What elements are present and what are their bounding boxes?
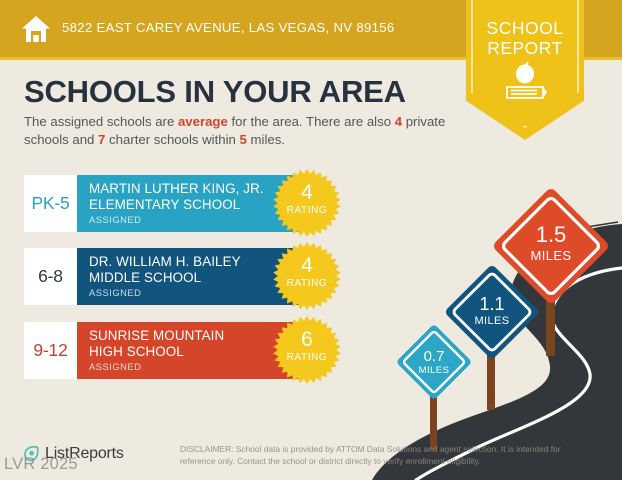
home-icon — [20, 13, 52, 45]
school-row[interactable]: 6-8 DR. WILLIAM H. BAILEY MIDDLE SCHOOL … — [24, 248, 301, 305]
school-name-line2: HIGH SCHOOL — [89, 344, 289, 360]
school-row[interactable]: 9-12 SUNRISE MOUNTAIN HIGH SCHOOL ASSIGN… — [24, 322, 301, 379]
rating-starburst: 4 RATING — [273, 242, 341, 310]
rating-starburst: 4 RATING — [273, 169, 341, 237]
apple-and-book-icon — [497, 60, 553, 106]
grade-range-badge: PK-5 — [24, 175, 77, 232]
distance-sign-large: 1.5 MILES — [492, 184, 610, 369]
watermark-label: LVR 2025 — [4, 455, 78, 474]
sign-2-graphic — [492, 184, 610, 364]
rating-label: RATING — [273, 205, 341, 217]
rating-value: 4 — [273, 255, 341, 277]
school-bar: MARTIN LUTHER KING, JR. ELEMENTARY SCHOO… — [77, 175, 301, 232]
assignment-status: ASSIGNED — [89, 361, 141, 372]
school-name: DR. WILLIAM H. BAILEY MIDDLE SCHOOL — [89, 254, 289, 285]
subtitle-highlight: 4 — [395, 114, 402, 129]
school-bar: SUNRISE MOUNTAIN HIGH SCHOOL ASSIGNED — [77, 322, 301, 379]
rating-value: 4 — [273, 182, 341, 204]
school-name: MARTIN LUTHER KING, JR. ELEMENTARY SCHOO… — [89, 181, 289, 212]
rating-value: 6 — [273, 329, 341, 351]
road-illustration: 0.7 MILES 1.1 MILES 1.5 — [372, 182, 622, 480]
school-name-line2: MIDDLE SCHOOL — [89, 270, 289, 286]
banner-title-line1: SCHOOL — [466, 18, 584, 38]
grade-range-badge: 9-12 — [24, 322, 77, 379]
disclaimer-text: DISCLAIMER: School data is provided by A… — [180, 444, 580, 467]
assignment-status: ASSIGNED — [89, 287, 141, 298]
subtitle-highlight: 5 — [240, 132, 247, 147]
sign-distance-unit: MILES — [492, 248, 610, 263]
grade-range-label: 6-8 — [38, 266, 63, 287]
grade-range-badge: 6-8 — [24, 248, 77, 305]
rating-label: RATING — [273, 278, 341, 290]
sign-distance-value: 1.5 — [492, 222, 610, 248]
assignment-status: ASSIGNED — [89, 214, 141, 225]
rating-starburst: 6 RATING — [273, 316, 341, 384]
school-name-line1: DR. WILLIAM H. BAILEY — [89, 254, 289, 270]
page-title: SCHOOLS IN YOUR AREA — [24, 74, 406, 110]
page-subtitle: The assigned schools are average for the… — [24, 113, 454, 148]
school-name-line1: MARTIN LUTHER KING, JR. — [89, 181, 289, 197]
subtitle-text: for the area. There are also — [228, 114, 395, 129]
subtitle-highlight: average — [178, 114, 228, 129]
school-name-line1: SUNRISE MOUNTAIN — [89, 328, 289, 344]
subtitle-text: miles. — [247, 132, 285, 147]
banner-title-line2: REPORT — [466, 38, 584, 58]
school-bar: DR. WILLIAM H. BAILEY MIDDLE SCHOOL ASSI… — [77, 248, 301, 305]
rating-label: RATING — [273, 352, 341, 364]
school-name: SUNRISE MOUNTAIN HIGH SCHOOL — [89, 328, 289, 359]
property-address: 5822 EAST CAREY AVENUE, LAS VEGAS, NV 89… — [62, 20, 395, 35]
subtitle-text: The assigned schools are — [24, 114, 178, 129]
school-name-line2: ELEMENTARY SCHOOL — [89, 197, 289, 213]
grade-range-label: PK-5 — [31, 193, 69, 214]
school-report-infographic: 5822 EAST CAREY AVENUE, LAS VEGAS, NV 89… — [0, 0, 622, 480]
grade-range-label: 9-12 — [33, 340, 67, 361]
subtitle-text: charter schools within — [105, 132, 239, 147]
school-row[interactable]: PK-5 MARTIN LUTHER KING, JR. ELEMENTARY … — [24, 175, 301, 232]
